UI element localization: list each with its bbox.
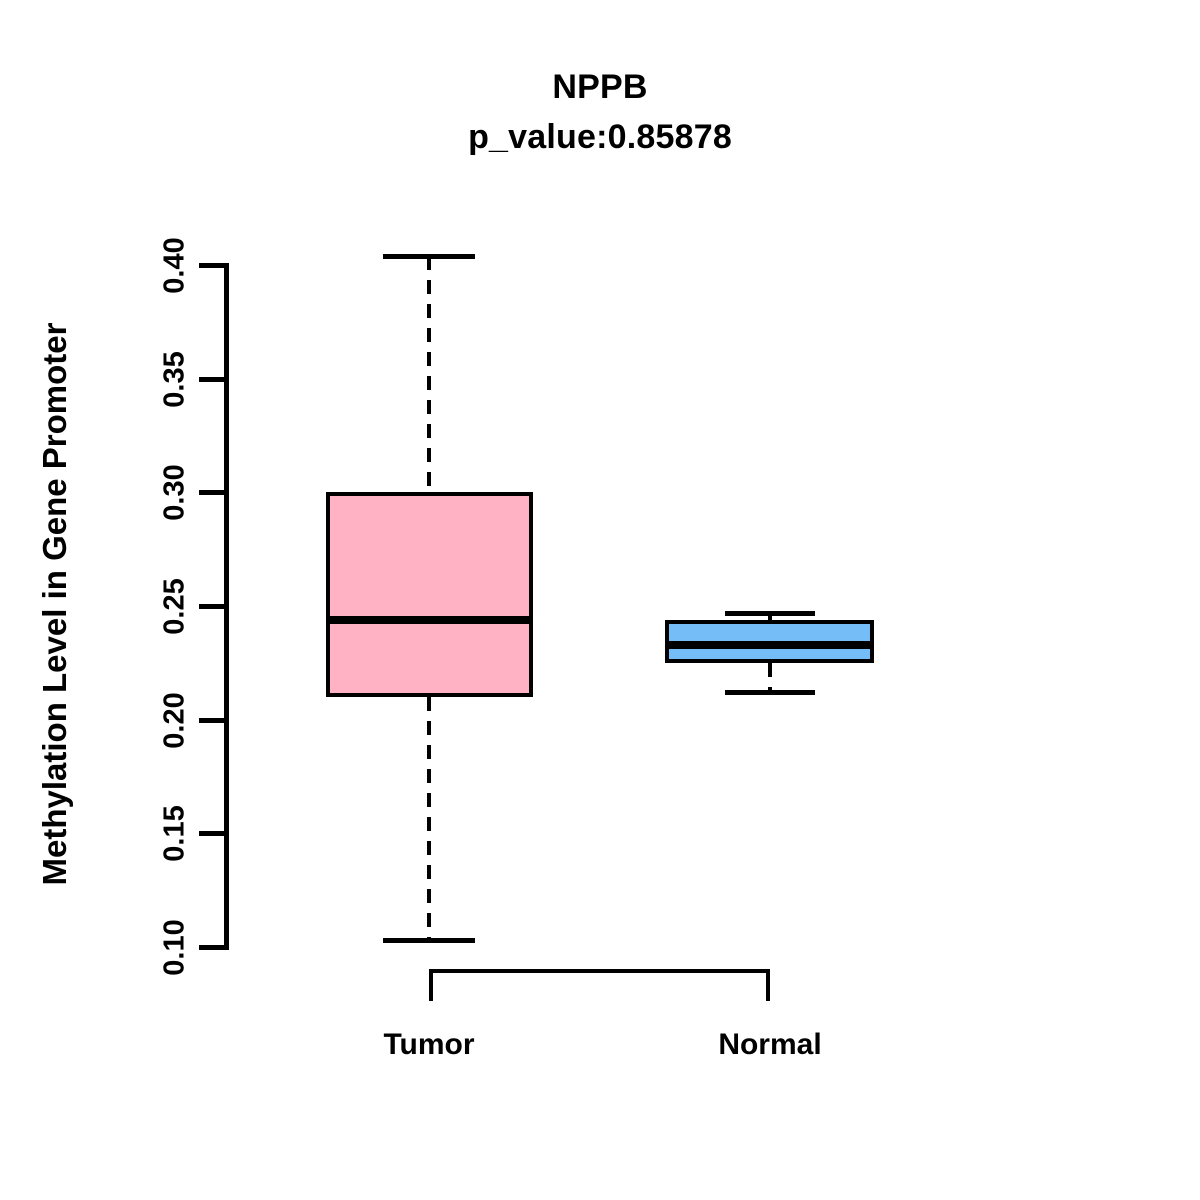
x-tick-label-normal: Normal [620, 1028, 920, 1062]
y-tick-mark [199, 718, 225, 723]
whisker-upper-tumor [427, 256, 431, 492]
whisker-lower-tumor [427, 697, 431, 940]
y-tick-label: 0.25 [159, 552, 192, 662]
y-tick-mark [199, 263, 225, 268]
chart-subtitle-pvalue: p_value:0.85878 [0, 118, 1200, 157]
median-line-normal [665, 641, 874, 649]
y-tick-label: 0.20 [159, 665, 192, 775]
box-tumor [326, 492, 533, 697]
y-tick-mark [199, 945, 225, 950]
whisker-cap-lower-tumor [383, 938, 475, 943]
y-tick-label: 0.10 [159, 893, 192, 1003]
whisker-cap-upper-tumor [383, 254, 475, 259]
x-axis-bracket-tick-right [766, 969, 770, 1001]
chart-title: NPPB [0, 68, 1200, 107]
y-tick-mark [199, 377, 225, 382]
whisker-cap-lower-normal [725, 690, 815, 695]
x-tick-label-tumor: Tumor [279, 1028, 579, 1062]
y-tick-mark [199, 604, 225, 609]
whisker-lower-normal [768, 663, 772, 693]
y-axis-title: Methylation Level in Gene Promoter [36, 194, 74, 1014]
y-tick-label: 0.40 [159, 211, 192, 321]
y-tick-label: 0.35 [159, 324, 192, 434]
whisker-cap-upper-normal [725, 611, 815, 616]
x-axis-bracket [429, 969, 770, 973]
y-tick-label: 0.15 [159, 779, 192, 889]
x-axis-bracket-tick-left [429, 969, 433, 1001]
median-line-tumor [326, 616, 533, 624]
boxplot-figure: NPPB p_value:0.85878 Methylation Level i… [0, 0, 1200, 1200]
y-tick-mark [199, 831, 225, 836]
y-tick-label: 0.30 [159, 438, 192, 548]
y-tick-mark [199, 490, 225, 495]
